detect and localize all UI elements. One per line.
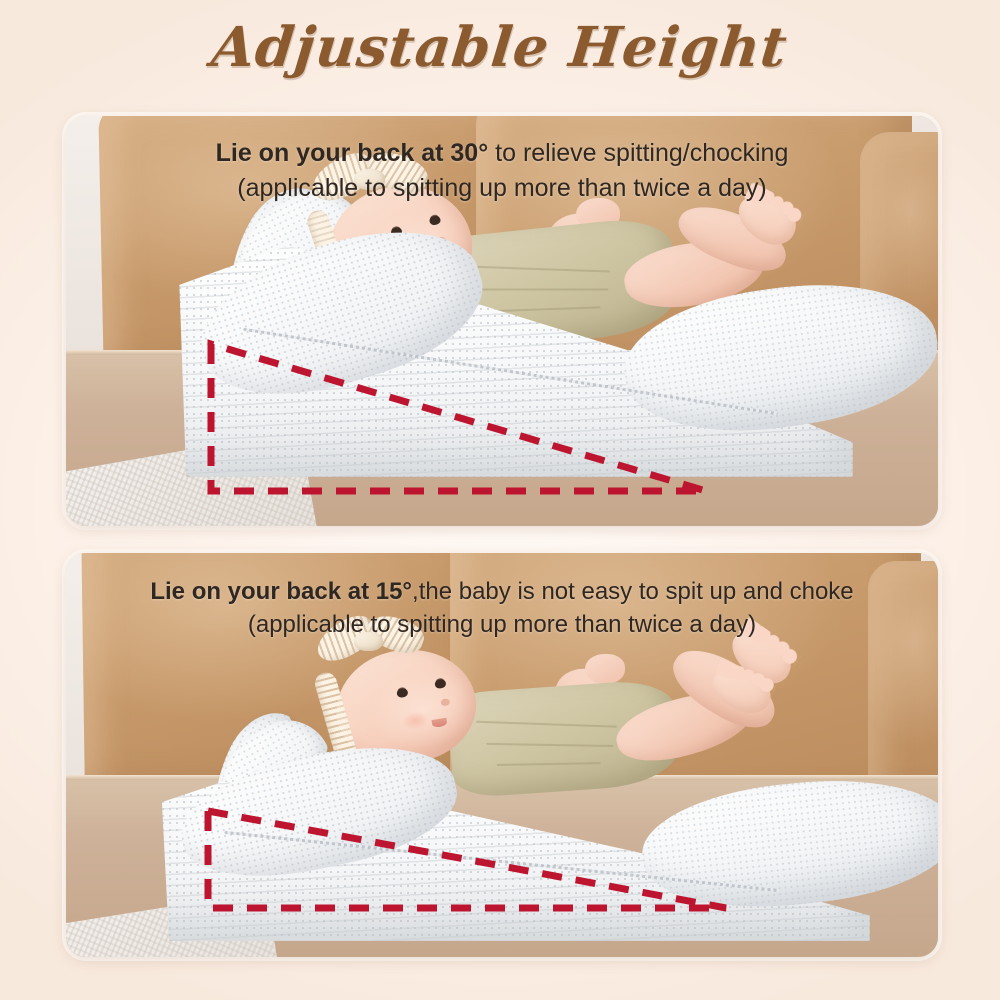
angle-triangle-path-15	[208, 811, 726, 908]
angle-triangle-path-30	[211, 344, 706, 491]
panel-30-degree: Lie on your back at 30° to relieve spitt…	[66, 116, 938, 526]
caption-30-degree: Lie on your back at 30° to relieve spitt…	[66, 138, 938, 204]
panel-15-degree: Lie on your back at 15°,the baby is not …	[66, 553, 938, 957]
page-title: Adjustable Height	[209, 18, 790, 76]
caption-bold-30: Lie on your back at 30°	[216, 139, 489, 167]
page-title-wrapper: Adjustable Height	[0, 18, 1000, 76]
caption-rest-15: ,the baby is not easy to spit up and cho…	[412, 578, 854, 605]
caption-line-1: Lie on your back at 30° to relieve spitt…	[66, 138, 938, 170]
scene-15-degree: Lie on your back at 15°,the baby is not …	[66, 553, 938, 957]
caption-line-2: (applicable to spitting up more than twi…	[66, 173, 938, 205]
caption-15-degree: Lie on your back at 15°,the baby is not …	[66, 577, 938, 640]
caption-rest-30: to relieve spitting/chocking	[488, 139, 788, 167]
caption-line-1: Lie on your back at 15°,the baby is not …	[66, 577, 938, 607]
caption-bold-15: Lie on your back at 15°	[150, 578, 412, 605]
caption-line-2: (applicable to spitting up more than twi…	[66, 610, 938, 640]
scene-30-degree: Lie on your back at 30° to relieve spitt…	[66, 116, 938, 526]
